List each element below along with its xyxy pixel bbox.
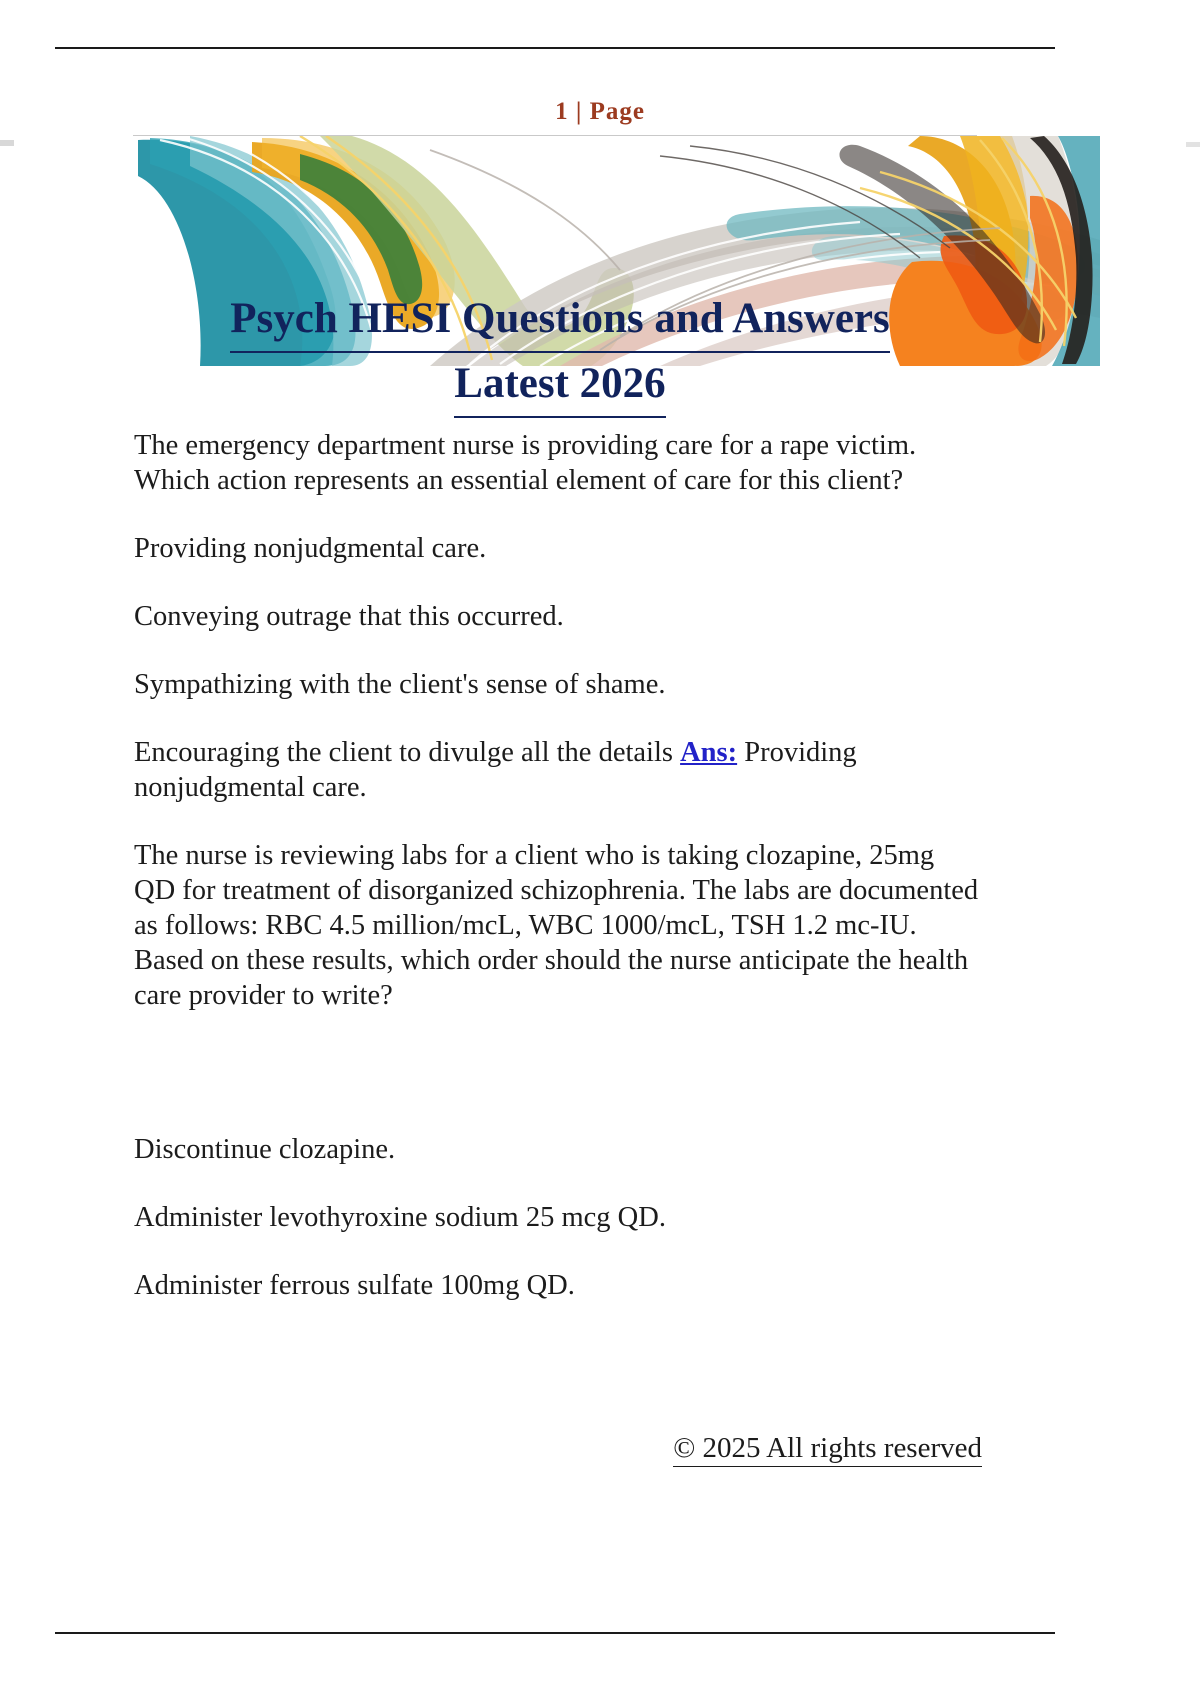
- answer-label-link[interactable]: Ans:: [680, 737, 737, 768]
- question-1-stem: The emergency department nurse is provid…: [134, 428, 982, 498]
- q1-option-b: Conveying outrage that this occurred.: [134, 599, 982, 634]
- page-title-line-2: Latest 2026: [150, 353, 970, 418]
- top-horizontal-rule: [55, 47, 1055, 49]
- bottom-horizontal-rule: [55, 1632, 1055, 1634]
- q2-option-b: Administer levothyroxine sodium 25 mcg Q…: [134, 1200, 982, 1235]
- q2-option-a: Discontinue clozapine.: [134, 1132, 982, 1167]
- q1-option-d-text: Encouraging the client to divulge all th…: [134, 737, 680, 768]
- document-page: 1 | Page: [0, 0, 1200, 1700]
- document-body: The emergency department nurse is provid…: [134, 428, 982, 1336]
- running-header: 1 | Page: [0, 98, 1200, 126]
- q1-option-a: Providing nonjudgmental care.: [134, 531, 982, 566]
- page-title: Psych HESI Questions and Answers Latest …: [150, 288, 970, 418]
- q2-option-c: Administer ferrous sulfate 100mg QD.: [134, 1268, 982, 1303]
- q1-option-c: Sympathizing with the client's sense of …: [134, 667, 982, 702]
- q1-option-d-and-answer: Encouraging the client to divulge all th…: [134, 735, 982, 805]
- page-title-line-1: Psych HESI Questions and Answers: [150, 288, 970, 353]
- page-number-label: 1 | Page: [555, 98, 645, 126]
- question-2-stem: The nurse is reviewing labs for a client…: [134, 838, 982, 1013]
- page-footer: © 2025 All rights reserved: [134, 1432, 982, 1467]
- copyright-notice: © 2025 All rights reserved: [673, 1432, 982, 1467]
